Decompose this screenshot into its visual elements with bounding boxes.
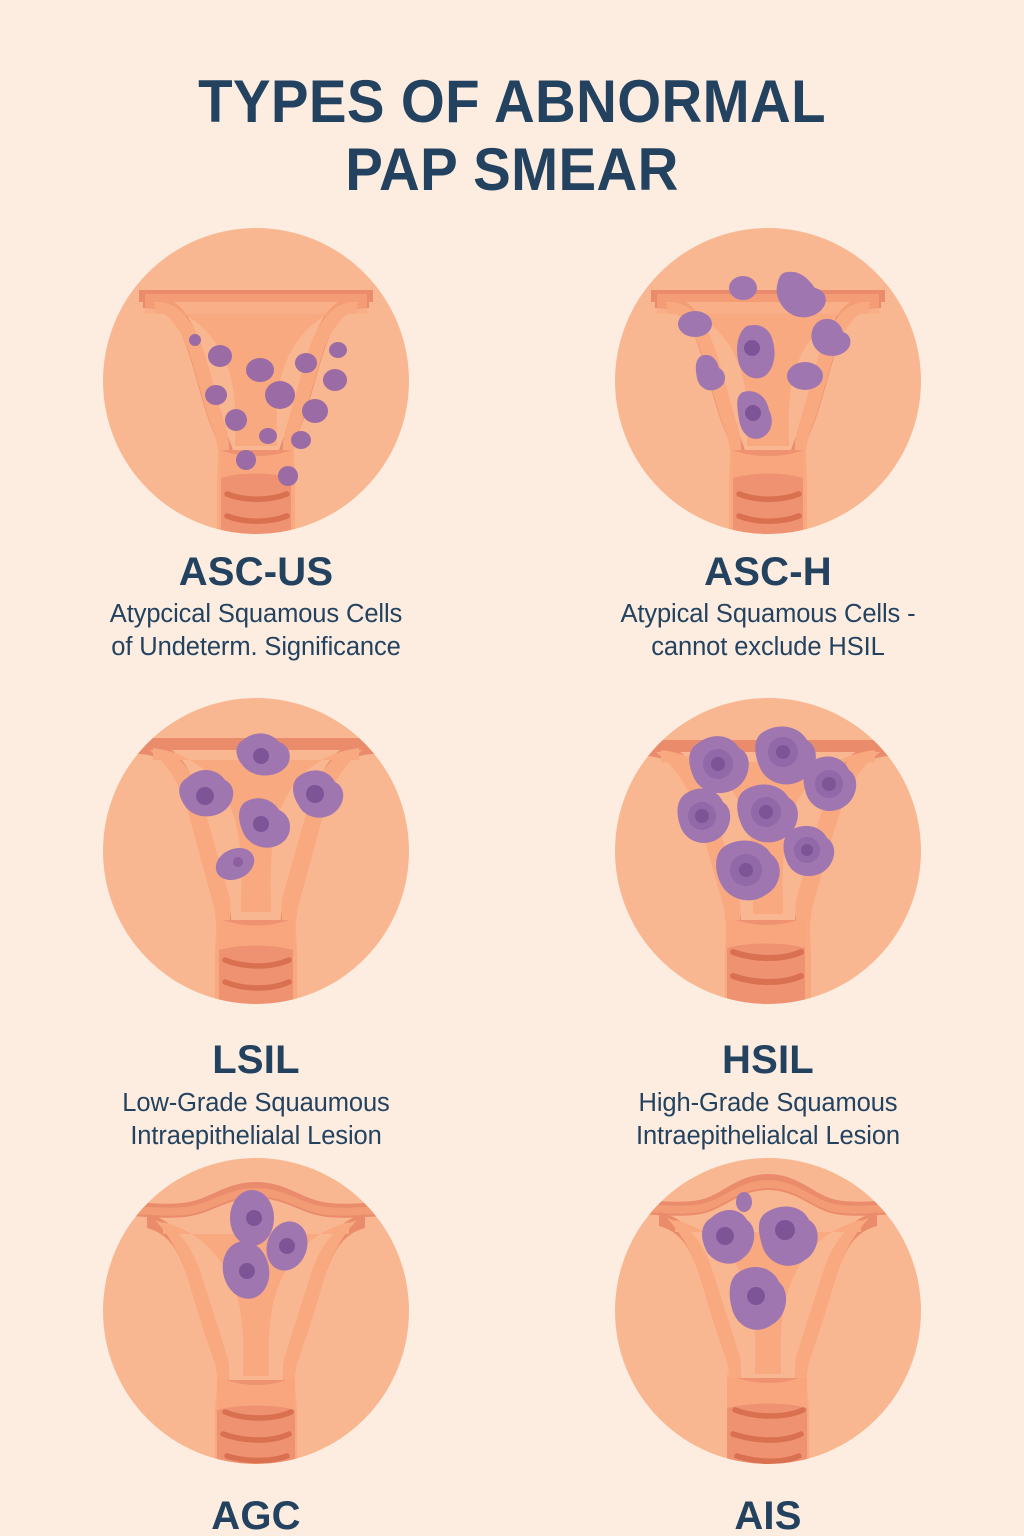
uterus-illustration-hsil	[615, 698, 921, 1004]
type-description: Atypical Squamous Cells - cannot exclude…	[620, 598, 915, 664]
caption-hsil: HSIL High-Grade Squamous Intraepithelial…	[636, 1004, 900, 1153]
caption-agc: AGC Atypical Glandular Cells	[122, 1464, 390, 1536]
uterus-illustration-agc	[103, 1158, 409, 1464]
type-card-agc: AGC Atypical Glandular Cells	[0, 1158, 512, 1536]
grid-row-1: ASC-US Atypcical Squamous Cells of Undet…	[0, 228, 1024, 698]
type-description: Low-Grade Squaumous Intraepithelialal Le…	[122, 1087, 389, 1153]
type-description: Atypcical Squamous Cells of Undeterm. Si…	[110, 598, 402, 664]
uterus-illustration-ais	[615, 1158, 921, 1464]
type-card-asc-h: ASC-H Atypical Squamous Cells - cannot e…	[512, 228, 1024, 698]
page-title-line-2: PAP SMEAR	[31, 136, 994, 204]
type-abbr: AGC	[122, 1496, 390, 1536]
type-abbr: LSIL	[122, 1040, 389, 1080]
type-card-asc-us: ASC-US Atypcical Squamous Cells of Undet…	[0, 228, 512, 698]
caption-asc-us: ASC-US Atypcical Squamous Cells of Undet…	[110, 534, 402, 664]
type-abbr: HSIL	[636, 1040, 900, 1080]
type-card-lsil: LSIL Low-Grade Squaumous Intraepithelial…	[0, 698, 512, 1158]
uterus-illustration-lsil	[103, 698, 409, 1004]
type-abbr: AIS	[634, 1496, 903, 1536]
type-abbr: ASC-US	[110, 552, 402, 592]
pap-smear-types-grid: ASC-US Atypcical Squamous Cells of Undet…	[0, 228, 1024, 1536]
caption-ais: AIS Adenocarcinoma In Situ	[634, 1464, 903, 1536]
type-description: High-Grade Squamous Intraepithelialcal L…	[636, 1087, 900, 1153]
page-title-line-1: TYPES OF ABNORMAL	[31, 68, 994, 136]
type-abbr: ASC-H	[620, 552, 915, 592]
grid-row-3: AGC Atypical Glandular Cells	[0, 1158, 1024, 1536]
uterus-illustration-asc-h	[615, 228, 921, 534]
type-card-ais: AIS Adenocarcinoma In Situ	[512, 1158, 1024, 1536]
caption-lsil: LSIL Low-Grade Squaumous Intraepithelial…	[122, 1004, 389, 1153]
page-title: TYPES OF ABNORMAL PAP SMEAR	[0, 0, 1024, 205]
grid-row-2: LSIL Low-Grade Squaumous Intraepithelial…	[0, 698, 1024, 1158]
type-card-hsil: HSIL High-Grade Squamous Intraepithelial…	[512, 698, 1024, 1158]
uterus-illustration-asc-us	[103, 228, 409, 534]
caption-asc-h: ASC-H Atypical Squamous Cells - cannot e…	[620, 534, 915, 664]
